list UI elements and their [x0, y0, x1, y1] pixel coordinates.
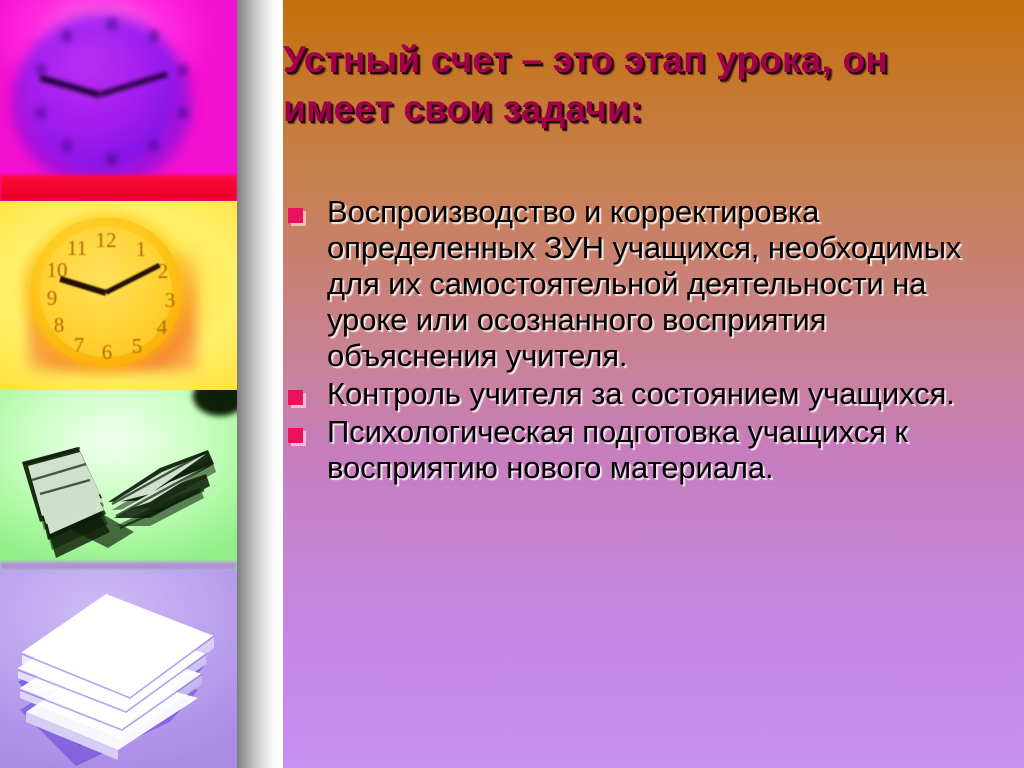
square-bullet-icon: [288, 428, 303, 443]
clock-numeral-7: 7: [68, 333, 90, 358]
bullet-text: Воспроизводство и корректировка определе…: [327, 194, 995, 374]
clock-magenta-red-band: [0, 175, 237, 201]
bullet-text: Контроль учителя за состоянием учащихся.: [327, 376, 995, 412]
clock-numeral-6: 6: [96, 340, 118, 365]
clock-numeral-2: 2: [152, 259, 174, 284]
clock-magenta-ticks: [36, 18, 197, 171]
page-title: Устный счет – это этап урока, он имеет с…: [283, 36, 993, 134]
clock-numeral-1: 1: [130, 237, 152, 262]
slide: 12 1 2 3 4 5 6 7 8 9 10 11: [0, 0, 1024, 768]
square-bullet-icon: [288, 208, 303, 223]
list-item: Воспроизводство и корректировка определе…: [283, 194, 995, 374]
papers-violet-illustration: [0, 570, 237, 768]
book-green-violet-band: [0, 562, 237, 570]
square-bullet-icon: [288, 390, 303, 405]
image-clock-magenta: [0, 0, 237, 201]
bullet-list: Воспроизводство и корректировка определе…: [283, 194, 995, 488]
clock-numeral-4: 4: [151, 315, 173, 340]
clock-numeral-3: 3: [159, 288, 181, 313]
clock-numeral-5: 5: [126, 334, 148, 359]
image-book-green: [0, 390, 237, 570]
clock-numeral-8: 8: [48, 313, 70, 338]
gradient-divider: [237, 0, 283, 768]
picture-strip: 12 1 2 3 4 5 6 7 8 9 10 11: [0, 0, 237, 768]
book-green-illustration: [0, 390, 237, 570]
bullet-text: Психологическая подготовка учащихся к во…: [327, 414, 995, 486]
list-item: Психологическая подготовка учащихся к во…: [283, 414, 995, 486]
image-papers-violet: [0, 570, 237, 768]
list-item: Контроль учителя за состоянием учащихся.: [283, 376, 995, 412]
clock-numeral-9: 9: [41, 286, 63, 311]
clock-numeral-11: 11: [66, 236, 88, 261]
image-clock-yellow: 12 1 2 3 4 5 6 7 8 9 10 11: [0, 201, 237, 390]
clock-numeral-12: 12: [95, 228, 117, 253]
